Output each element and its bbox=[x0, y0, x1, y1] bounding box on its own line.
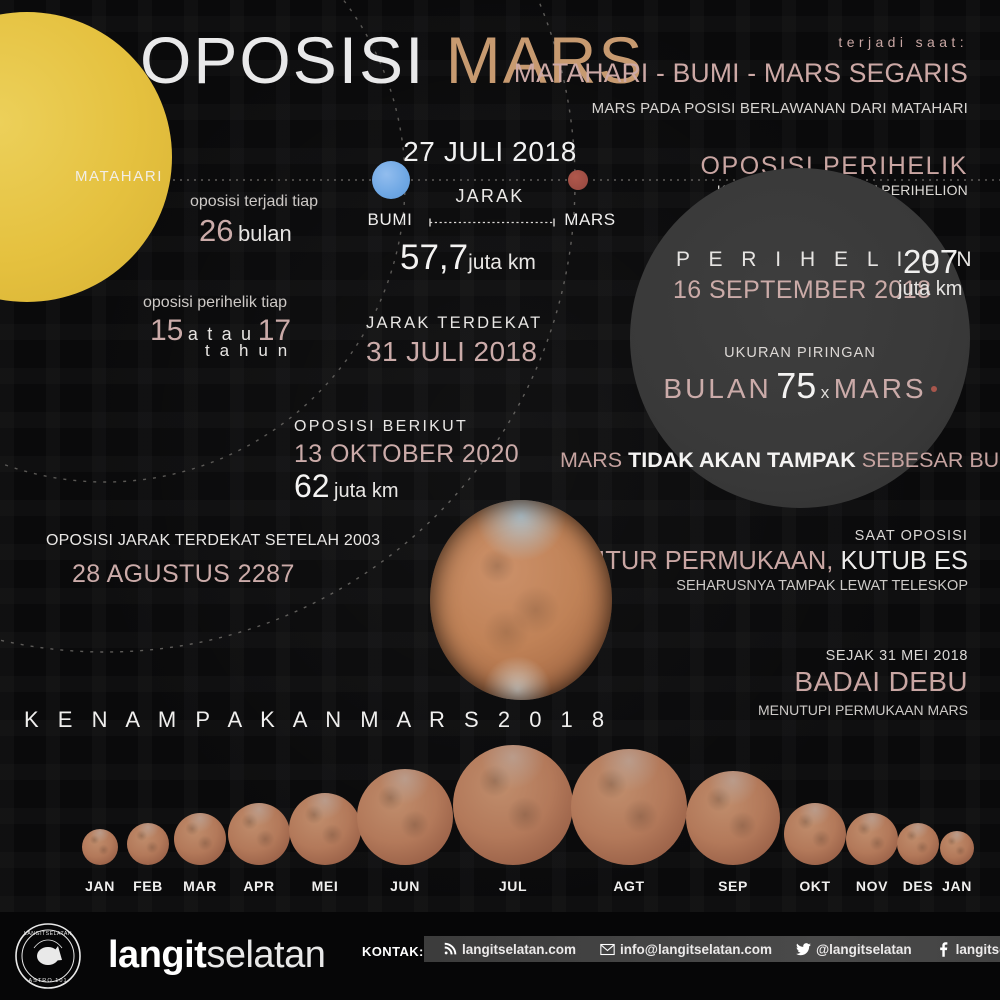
mars-disk-mei-4 bbox=[289, 793, 361, 865]
surface-features-headline: FITUR PERMUKAAN, KUTUB ES bbox=[583, 547, 968, 576]
disk-size-caption: UKURAN PIRINGAN bbox=[630, 345, 970, 361]
month-label-nov-10: NOV bbox=[856, 878, 888, 894]
opposition-interval-value: 26 bulan bbox=[199, 213, 292, 249]
mars-not-as-big-statement: MARS TIDAK AKAN TAMPAK SEBESAR BULAN bbox=[560, 448, 972, 473]
mars-disk-nov-10 bbox=[846, 813, 898, 865]
earth-label: BUMI bbox=[350, 210, 430, 230]
mars-disk-okt-9 bbox=[784, 803, 846, 865]
svg-text:LANGITSELATAN: LANGITSELATAN bbox=[24, 931, 72, 937]
distance-label: JARAK bbox=[430, 186, 550, 207]
svg-text:ASTRO 101: ASTRO 101 bbox=[28, 978, 67, 984]
brand-selatan: selatan bbox=[206, 934, 325, 976]
closest-after-2003-caption: OPOSISI JARAK TERDEKAT SETELAH 2003 bbox=[46, 532, 380, 550]
disk-size-times: x bbox=[821, 383, 830, 402]
twitter-icon bbox=[796, 942, 811, 957]
month-label-jun-5: JUN bbox=[390, 878, 420, 894]
next-opposition-date: 13 OKTOBER 2020 bbox=[294, 440, 519, 469]
contact-item-3[interactable]: langitselatan bbox=[924, 942, 1000, 957]
email-icon bbox=[600, 942, 615, 957]
mars-disk-des-11 bbox=[897, 823, 939, 865]
contact-label: KONTAK: bbox=[362, 944, 424, 959]
mars-disk-mar-2 bbox=[174, 813, 226, 865]
contact-text-0: langitselatan.com bbox=[462, 942, 576, 957]
mars-planet-icon bbox=[568, 170, 588, 190]
disk-size-moon-label: BULAN bbox=[663, 373, 771, 404]
opposition-interval-caption: oposisi terjadi tiap bbox=[190, 193, 318, 211]
facebook-icon bbox=[936, 942, 951, 957]
contact-item-0[interactable]: langitselatan.com bbox=[430, 942, 588, 957]
dust-storm-headline: BADAI DEBU bbox=[794, 666, 968, 698]
sun-label: MATAHARI bbox=[44, 168, 194, 185]
mars-disk-jan-12 bbox=[940, 831, 974, 865]
earth-planet-icon bbox=[372, 161, 410, 199]
statement-part-c: SEBESAR BULAN bbox=[862, 448, 1000, 472]
distance-arrow-icon bbox=[428, 218, 556, 227]
perihelion-date: 16 SEPTEMBER 2018 bbox=[673, 276, 931, 305]
mars-disk-feb-1 bbox=[127, 823, 169, 865]
opposition-date-2018: 27 JULI 2018 bbox=[330, 136, 650, 168]
disk-size-comparison: BULAN 75 x MARS bbox=[630, 365, 970, 407]
month-label-agt-7: AGT bbox=[613, 878, 644, 894]
next-opposition-unit: juta km bbox=[334, 480, 398, 502]
mars-disk-jan-0 bbox=[82, 829, 118, 865]
surface-features-sub: SEHARUSNYA TAMPAK LEWAT TELESKOP bbox=[676, 578, 968, 594]
title-part-oposisi: OPOSISI bbox=[140, 23, 425, 97]
mars-scale-dot-icon bbox=[931, 386, 937, 392]
mars-disk-apr-3 bbox=[228, 803, 290, 865]
opposition-interval-unit: bulan bbox=[238, 221, 292, 246]
contact-item-1[interactable]: info@langitselatan.com bbox=[588, 942, 784, 957]
mars-disk-jun-5 bbox=[357, 769, 453, 865]
next-opposition-caption: OPOSISI BERIKUT bbox=[294, 418, 468, 436]
contact-text-3: langitselatan bbox=[956, 942, 1000, 957]
perihelic-interval-caption: oposisi perihelik tiap bbox=[143, 294, 287, 312]
next-opposition-distance: 62 juta km bbox=[294, 468, 399, 505]
month-label-jul-6: JUL bbox=[499, 878, 527, 894]
month-label-jan-12: JAN bbox=[942, 878, 972, 894]
next-opposition-value: 62 bbox=[294, 468, 330, 504]
distance-unit: juta km bbox=[468, 251, 536, 274]
month-label-sep-8: SEP bbox=[718, 878, 748, 894]
mars-disk-sep-8 bbox=[686, 771, 780, 865]
disk-size-mars-label: MARS bbox=[834, 373, 927, 404]
appearance-section-heading: K E N A M P A K A N M A R S 2 0 1 8 bbox=[24, 707, 611, 733]
mars-label: MARS bbox=[550, 210, 630, 230]
occurs-when-eyebrow: terjadi saat: bbox=[838, 34, 968, 50]
distance-value: 57,7 bbox=[400, 238, 468, 277]
contact-item-2[interactable]: @langitselatan bbox=[784, 942, 924, 957]
month-label-okt-9: OKT bbox=[799, 878, 830, 894]
rss-icon bbox=[442, 942, 457, 957]
opposition-interval-number: 26 bbox=[199, 213, 233, 248]
closest-after-2003-date: 28 AGUSTUS 2287 bbox=[72, 560, 295, 589]
mars-size-timeline: JANFEBMARAPRMEIJUNJULAGTSEPOKTNOVDESJAN bbox=[0, 760, 1000, 910]
statement-part-b: TIDAK AKAN TAMPAK bbox=[628, 448, 862, 472]
month-label-mei-4: MEI bbox=[312, 878, 339, 894]
brand-wordmark: langitselatan bbox=[108, 934, 325, 977]
contact-text-2: @langitselatan bbox=[816, 942, 912, 957]
perihelic-interval-n1: 15 bbox=[150, 314, 183, 347]
earth-mars-distance: 57,7juta km bbox=[400, 238, 536, 278]
surface-headline-b: KUTUB ES bbox=[840, 547, 968, 575]
month-label-apr-3: APR bbox=[243, 878, 274, 894]
contact-text-1: info@langitselatan.com bbox=[620, 942, 772, 957]
month-label-mar-2: MAR bbox=[183, 878, 217, 894]
closest-distance-date: 31 JULI 2018 bbox=[366, 336, 537, 368]
perihelic-interval-unit: t a h u n bbox=[205, 341, 290, 361]
dust-storm-caption: SEJAK 31 MEI 2018 bbox=[826, 648, 968, 664]
mars-hero-image bbox=[430, 500, 612, 700]
alignment-headline: MATAHARI - BUMI - MARS SEGARIS bbox=[514, 58, 968, 89]
month-label-jan-0: JAN bbox=[85, 878, 115, 894]
disk-size-factor: 75 bbox=[776, 365, 816, 406]
closest-distance-caption: JARAK TERDEKAT bbox=[366, 314, 542, 333]
langitselatan-seal-logo-icon: LANGITSELATAN ASTRO 101 bbox=[14, 922, 82, 990]
dust-storm-sub: MENUTUPI PERMUKAAN MARS bbox=[758, 702, 968, 718]
month-label-feb-1: FEB bbox=[133, 878, 163, 894]
month-label-des-11: DES bbox=[903, 878, 934, 894]
alignment-subline: MARS PADA POSISI BERLAWANAN DARI MATAHAR… bbox=[592, 100, 968, 117]
mars-disk-jul-6 bbox=[453, 745, 573, 865]
mars-disk-agt-7 bbox=[571, 749, 687, 865]
contact-bar: langitselatan.cominfo@langitselatan.com@… bbox=[424, 936, 1000, 962]
statement-part-a: MARS bbox=[560, 448, 628, 472]
surface-headline-a: FITUR PERMUKAAN, bbox=[583, 547, 841, 575]
brand-langit: langit bbox=[108, 934, 206, 976]
perihelion-distance-unit: juta km bbox=[898, 278, 962, 301]
surface-features-caption: SAAT OPOSISI bbox=[855, 528, 968, 544]
